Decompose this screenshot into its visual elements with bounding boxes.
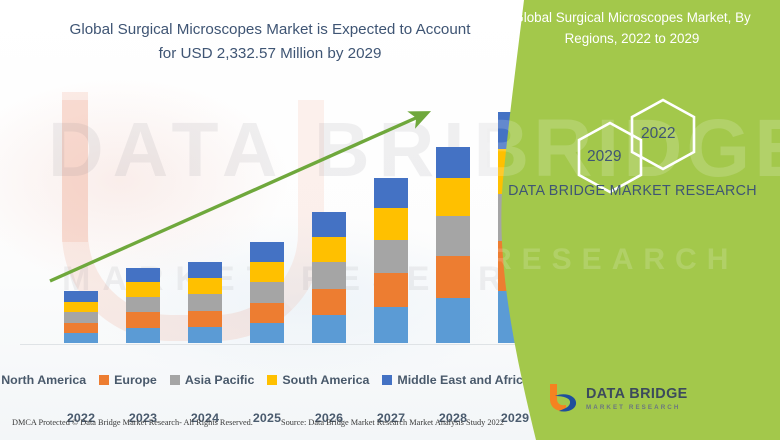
bar-segment-south-america: [374, 208, 408, 240]
hexagon-label-2029: 2029: [587, 148, 621, 166]
legend-swatch-icon: [99, 375, 109, 385]
dbmr-logo-mark-icon: [545, 382, 579, 416]
footer: DMCA Protected © Data Bridge Market Rese…: [0, 418, 516, 427]
hexagon-group: 2022 2029: [480, 85, 780, 195]
logo-main-text: DATA BRIDGE: [586, 387, 688, 401]
legend-label: South America: [282, 373, 369, 387]
hexagon-label-2022: 2022: [641, 125, 675, 143]
bar-segment-asia-pacific: [126, 297, 160, 312]
chart-plot-area: 20222023202420252026202720282029: [20, 60, 515, 345]
chart-legend: North AmericaEuropeAsia PacificSouth Ame…: [0, 373, 516, 387]
bar-group-2023: [112, 60, 174, 343]
logo-sub-text: MARKET RESEARCH: [586, 405, 688, 411]
bar-segment-europe: [188, 311, 222, 327]
stacked-bar-2022[interactable]: [64, 291, 98, 343]
bar-segment-europe: [64, 323, 98, 333]
dbmr-logo-text: DATA BRIDGE MARKET RESEARCH: [586, 387, 688, 411]
bar-segment-north-america: [312, 315, 346, 343]
bar-segment-asia-pacific: [436, 216, 470, 256]
x-axis-line: [20, 344, 515, 345]
green-panel-title: Global Surgical Microscopes Market, By R…: [496, 8, 768, 50]
bar-segment-europe: [126, 312, 160, 328]
stacked-bar-2023[interactable]: [126, 268, 160, 343]
green-panel-shape: [480, 0, 780, 440]
bar-segment-south-america: [436, 178, 470, 216]
stacked-bar-2028[interactable]: [436, 147, 470, 343]
bar-segment-south-america: [126, 282, 160, 297]
bar-segment-europe: [374, 273, 408, 307]
bar-group-2025: [236, 60, 298, 343]
bar-segment-middle-east-and-africa: [374, 178, 408, 208]
bar-segment-asia-pacific: [312, 262, 346, 289]
bar-segment-north-america: [64, 333, 98, 343]
bar-segment-middle-east-and-africa: [436, 147, 470, 178]
legend-item-europe[interactable]: Europe: [99, 373, 157, 387]
bar-group-2027: [360, 60, 422, 343]
footer-source: Source: Data Bridge Market Research Mark…: [281, 418, 504, 427]
bar-segment-north-america: [126, 328, 160, 343]
bar-segment-asia-pacific: [250, 282, 284, 303]
footer-copyright: DMCA Protected © Data Bridge Market Rese…: [12, 418, 253, 427]
bar-segment-middle-east-and-africa: [64, 291, 98, 302]
legend-swatch-icon: [382, 375, 392, 385]
bar-group-2026: [298, 60, 360, 343]
stacked-bar-2024[interactable]: [188, 262, 222, 343]
legend-swatch-icon: [267, 375, 277, 385]
bar-group-2024: [174, 60, 236, 343]
green-panel: BRIDGE RESEARCH Global Surgical Microsco…: [480, 0, 780, 440]
bar-segment-asia-pacific: [64, 312, 98, 323]
bar-segment-south-america: [312, 237, 346, 262]
bar-segment-north-america: [188, 327, 222, 343]
stacked-bar-2025[interactable]: [250, 242, 284, 343]
dbmr-logo: DATA BRIDGE MARKET RESEARCH: [545, 382, 688, 416]
bar-segment-south-america: [64, 302, 98, 312]
bar-segment-middle-east-and-africa: [126, 268, 160, 282]
bar-segment-south-america: [250, 262, 284, 282]
stacked-bar-2027[interactable]: [374, 178, 408, 343]
bar-segment-asia-pacific: [374, 240, 408, 273]
legend-swatch-icon: [170, 375, 180, 385]
legend-item-south-america[interactable]: South America: [267, 373, 369, 387]
bar-segment-south-america: [188, 278, 222, 294]
bar-segment-asia-pacific: [188, 294, 222, 311]
bar-segment-north-america: [374, 307, 408, 343]
bar-segment-north-america: [250, 323, 284, 343]
stacked-bar-series: [20, 60, 515, 343]
bar-segment-middle-east-and-africa: [312, 212, 346, 237]
legend-item-asia-pacific[interactable]: Asia Pacific: [170, 373, 255, 387]
stacked-bar-2026[interactable]: [312, 212, 346, 343]
brand-name: DATA BRIDGE MARKET RESEARCH: [500, 180, 765, 203]
bar-segment-europe: [250, 303, 284, 323]
bar-group-2022: [50, 60, 112, 343]
bar-segment-europe: [312, 289, 346, 315]
legend-label: Europe: [114, 373, 157, 387]
bar-segment-middle-east-and-africa: [188, 262, 222, 278]
bar-segment-middle-east-and-africa: [250, 242, 284, 262]
legend-item-north-america[interactable]: North America: [0, 373, 86, 387]
infographic-root: DATA BRIDGE MARKET RESEARCH Global Surgi…: [0, 0, 780, 440]
legend-label: North America: [1, 373, 86, 387]
page-title: Global Surgical Microscopes Market is Ex…: [60, 18, 480, 65]
bar-segment-north-america: [436, 298, 470, 343]
green-watermark-line2: RESEARCH: [490, 245, 780, 275]
bar-segment-europe: [436, 256, 470, 298]
legend-label: Asia Pacific: [185, 373, 255, 387]
